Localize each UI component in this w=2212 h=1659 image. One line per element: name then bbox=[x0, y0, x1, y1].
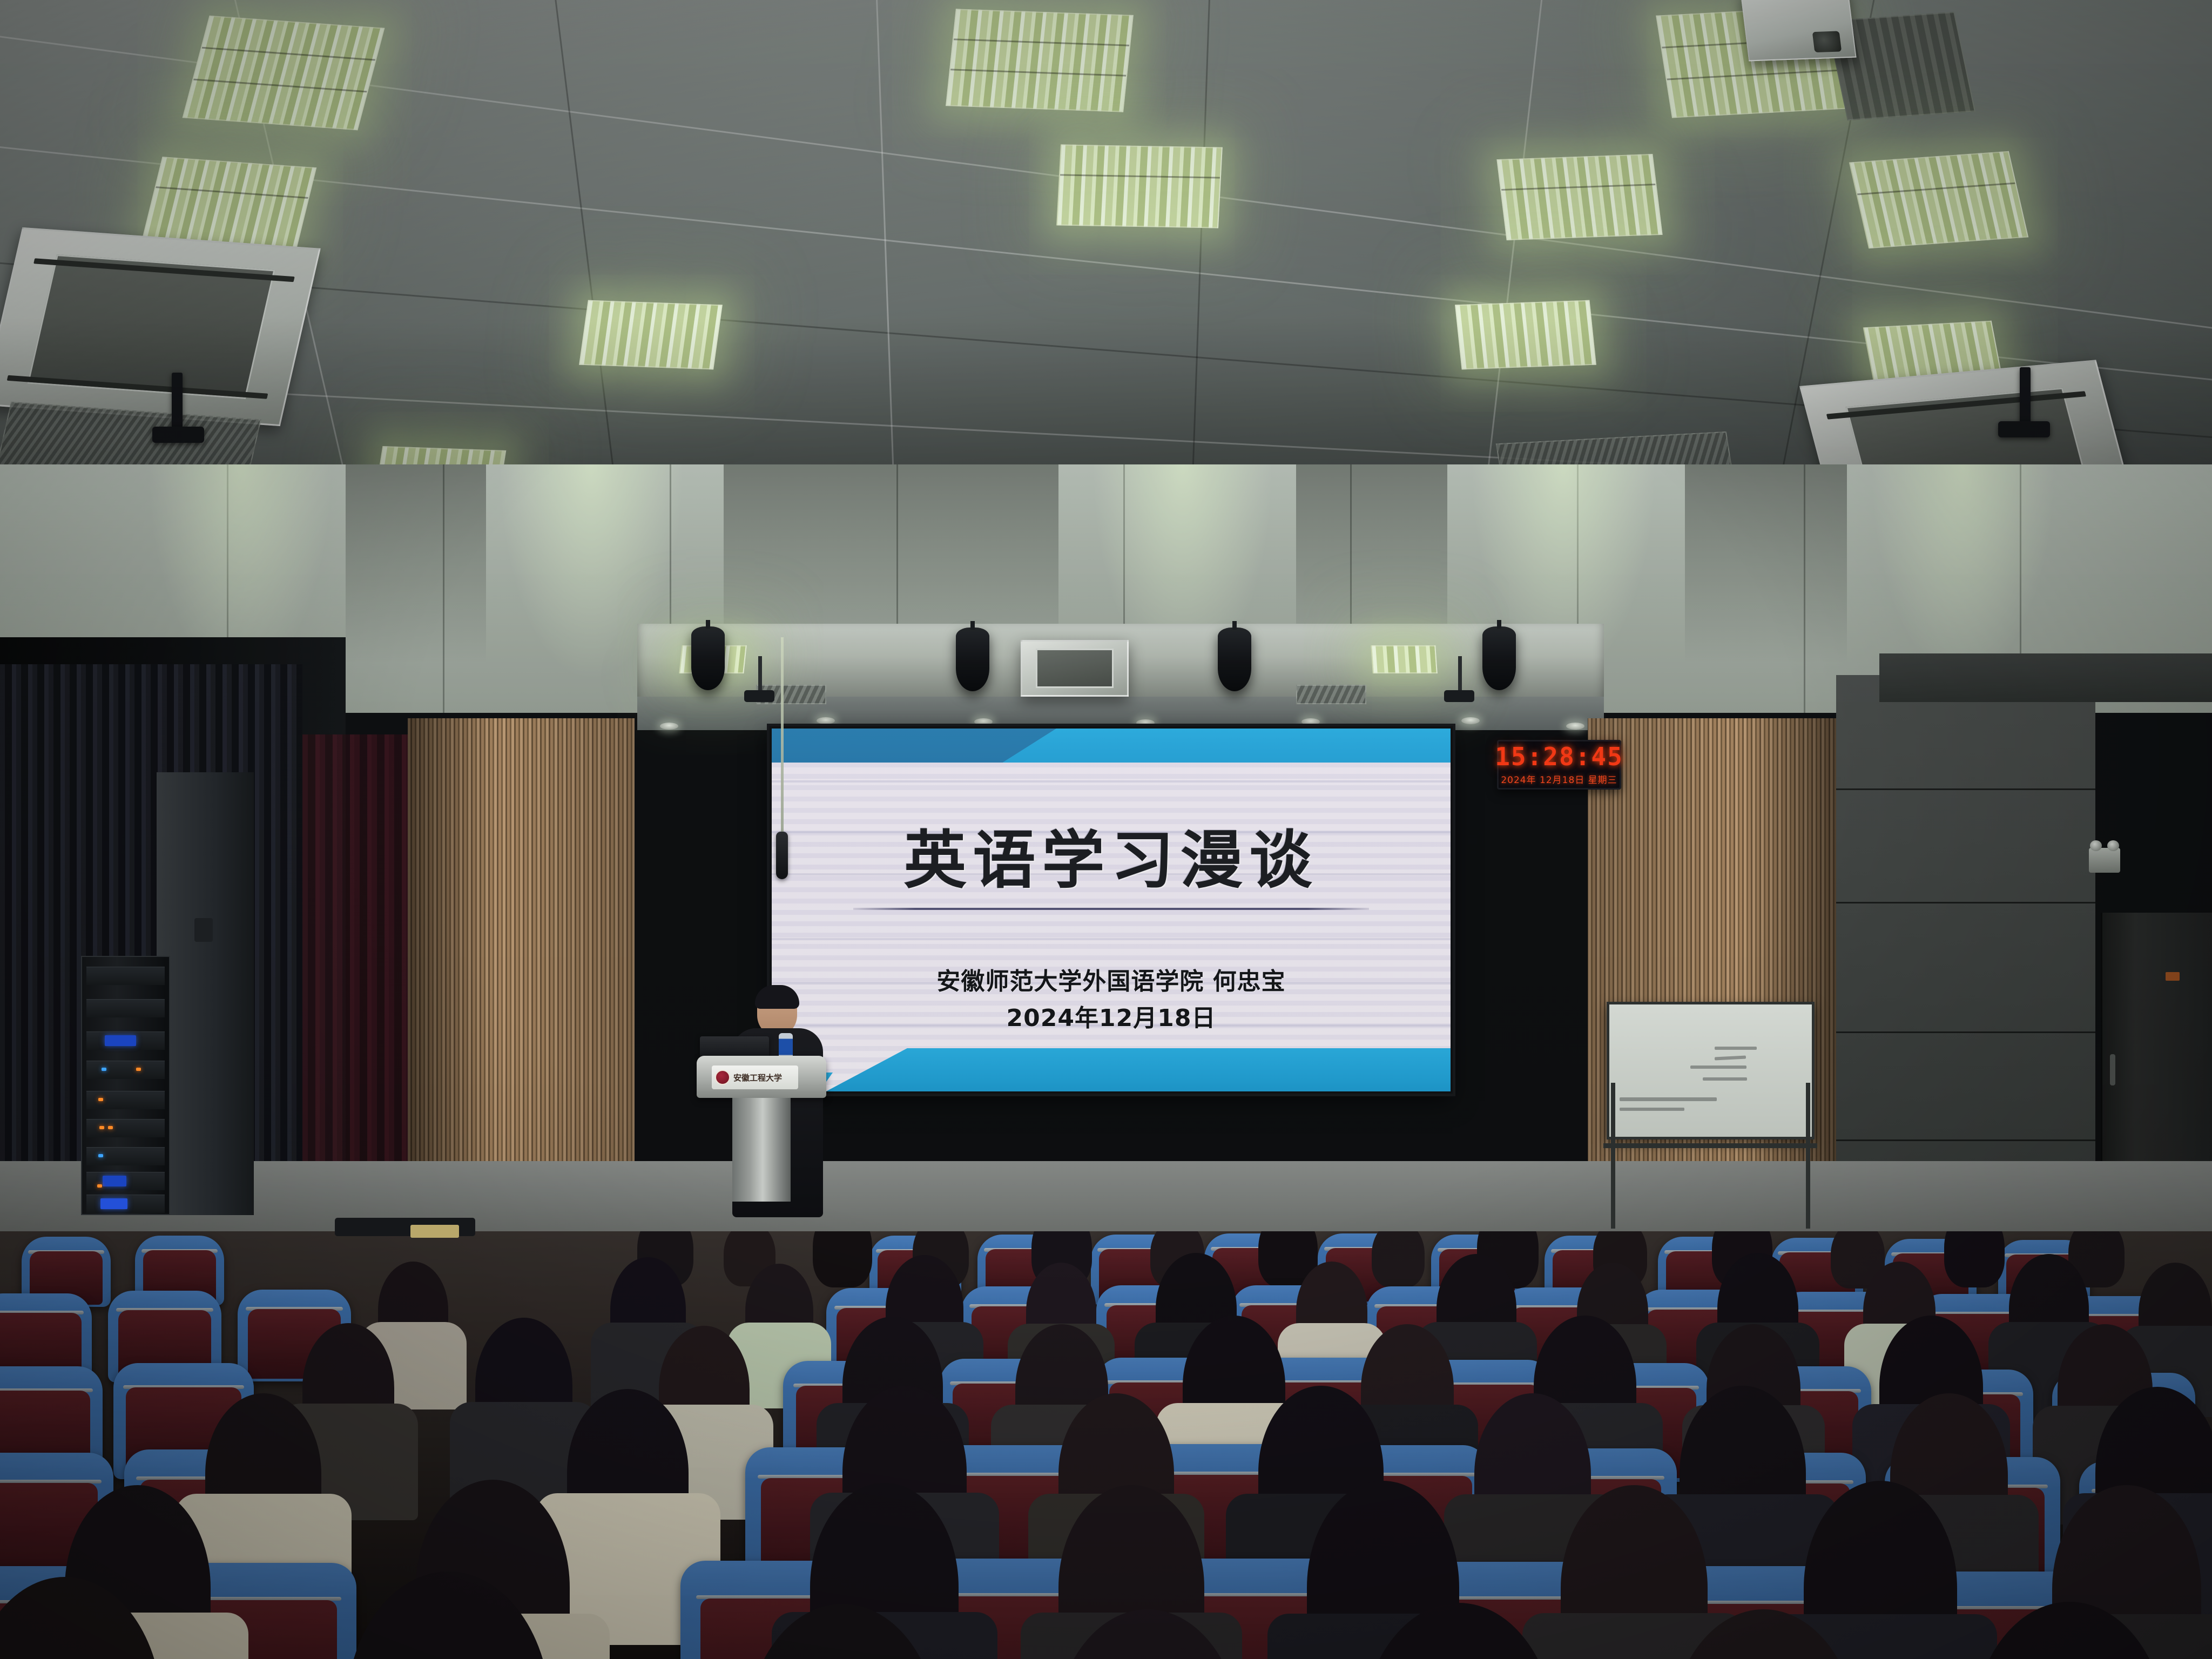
seat-part bbox=[1944, 1231, 2005, 1287]
stage-spotlight bbox=[1482, 626, 1516, 690]
podium-nameplate: 安徽工程大学 bbox=[712, 1065, 798, 1089]
fluorescent-troffer-light bbox=[1863, 321, 2004, 391]
audience-member-foreground bbox=[1971, 1602, 2168, 1659]
hanging-microphone bbox=[776, 832, 788, 879]
audience-member bbox=[205, 1393, 321, 1555]
clock-date: 2024年 12月18日 星期三 bbox=[1501, 772, 1617, 786]
ac-cassette-unit bbox=[0, 227, 321, 426]
stage-spotlight bbox=[1218, 628, 1251, 691]
audience-member bbox=[475, 1318, 572, 1454]
right-wall-panel bbox=[1836, 675, 2095, 1204]
audience-member bbox=[1944, 1231, 2005, 1287]
slide-title-divider bbox=[853, 908, 1369, 910]
light-stem bbox=[1458, 656, 1462, 691]
lecture-hall-photo: 英语学习漫谈 安徽师范大学外国语学院 何忠宝 2024年12月18日 15:28… bbox=[0, 0, 2212, 1659]
whiteboard-leg bbox=[1806, 1083, 1810, 1229]
seat-part bbox=[1372, 1231, 1425, 1287]
light-stem bbox=[758, 656, 762, 691]
soffit-grille bbox=[1296, 685, 1366, 704]
light-head bbox=[1444, 690, 1474, 702]
audience-member-foreground bbox=[0, 1577, 162, 1659]
ceiling-speaker bbox=[1998, 421, 2050, 437]
slide-top-band bbox=[772, 729, 1451, 763]
audience-member-foreground bbox=[1361, 1603, 1556, 1659]
audience-member-foreground bbox=[745, 1604, 940, 1659]
recessed-downlight bbox=[1136, 719, 1155, 726]
fluorescent-troffer-light bbox=[946, 9, 1134, 112]
fluorescent-troffer-light bbox=[1056, 144, 1223, 228]
stage-curtain-red bbox=[302, 734, 410, 1210]
soffit-troffer-light bbox=[1371, 645, 1438, 673]
stage-tape-marker bbox=[410, 1225, 459, 1238]
whiteboard-leg bbox=[1611, 1083, 1615, 1229]
podium-plate-text: 安徽工程大学 bbox=[733, 1072, 782, 1083]
recessed-downlight bbox=[1301, 718, 1320, 725]
presentation-slide: 英语学习漫谈 安徽师范大学外国语学院 何忠宝 2024年12月18日 bbox=[772, 729, 1451, 1091]
speaker-bracket bbox=[2020, 367, 2031, 427]
ceiling-grid-line bbox=[0, 254, 2212, 450]
fluorescent-troffer-light bbox=[143, 157, 317, 248]
fluorescent-troffer-light bbox=[183, 16, 385, 131]
side-equipment-cabinet bbox=[157, 772, 254, 1215]
stage-spotlight bbox=[956, 628, 989, 691]
audience-member bbox=[1296, 1262, 1367, 1361]
fluorescent-troffer-light-off bbox=[1826, 12, 1975, 120]
seat-part bbox=[1361, 1603, 1556, 1659]
soffit-ac-cassette bbox=[1021, 640, 1129, 697]
clock-time: 15:28:45 bbox=[1495, 744, 1623, 769]
light-head bbox=[744, 690, 774, 702]
seat-part bbox=[1053, 1609, 1242, 1659]
slide-affiliation: 安徽师范大学外国语学院 何忠宝 bbox=[772, 962, 1451, 996]
right-wall-header-band bbox=[1879, 653, 2212, 702]
ceiling-speaker bbox=[152, 427, 204, 443]
speaker-bracket bbox=[172, 373, 183, 432]
audience-member bbox=[1372, 1231, 1425, 1287]
stage-spotlight bbox=[691, 626, 725, 690]
university-crest-icon bbox=[715, 1070, 730, 1085]
whiteboard bbox=[1607, 1002, 1815, 1139]
seat-part bbox=[0, 1577, 162, 1659]
podium-top: 安徽工程大学 bbox=[697, 1056, 826, 1098]
microphone-cable bbox=[781, 637, 784, 837]
wall-mounted-device bbox=[194, 918, 213, 942]
seat-part bbox=[813, 1231, 872, 1287]
emergency-light-icon bbox=[2089, 848, 2120, 873]
seat-part bbox=[745, 1604, 940, 1659]
audience-member-foreground bbox=[346, 1572, 551, 1659]
fluorescent-troffer-light bbox=[1849, 151, 2028, 249]
slide-title: 英语学习漫谈 bbox=[772, 810, 1451, 900]
recessed-downlight bbox=[817, 717, 835, 724]
audience-seating-area bbox=[0, 1231, 2212, 1659]
slide-bottom-band bbox=[772, 1048, 1451, 1091]
podium-laptop bbox=[700, 1036, 769, 1058]
ceiling-grid-line bbox=[0, 22, 2212, 347]
fluorescent-troffer-light bbox=[1656, 6, 1849, 118]
wood-slat-wall-left bbox=[408, 718, 635, 1204]
seat-part bbox=[1971, 1602, 2168, 1659]
seat-part bbox=[346, 1572, 551, 1659]
audience-member-foreground bbox=[1053, 1609, 1242, 1659]
projector bbox=[1740, 0, 1856, 61]
recessed-downlight bbox=[660, 723, 678, 730]
ceiling-grid-line bbox=[0, 135, 2212, 396]
seat-part bbox=[1669, 1609, 1859, 1659]
whiteboard-crossbar bbox=[1603, 1143, 1817, 1148]
whiteboard-surface bbox=[1607, 1002, 1815, 1139]
recessed-downlight bbox=[1566, 723, 1584, 730]
exit-indicator-icon bbox=[2166, 972, 2180, 981]
audience-member bbox=[567, 1389, 689, 1557]
slide-date: 2024年12月18日 bbox=[772, 999, 1451, 1033]
recessed-downlight bbox=[974, 718, 993, 725]
digital-clock: 15:28:45 2024年 12月18日 星期三 bbox=[1497, 740, 1621, 790]
audience-member bbox=[745, 1264, 813, 1359]
av-equipment-rack bbox=[81, 956, 170, 1215]
projection-screen: 英语学习漫谈 安徽师范大学外国语学院 何忠宝 2024年12月18日 bbox=[770, 726, 1453, 1094]
podium-column bbox=[732, 1098, 791, 1202]
recessed-downlight bbox=[1461, 717, 1480, 724]
audience-member-foreground bbox=[1669, 1609, 1859, 1659]
podium: 安徽工程大学 bbox=[697, 1056, 826, 1202]
fluorescent-troffer-light bbox=[579, 300, 723, 370]
fluorescent-troffer-light bbox=[1496, 154, 1662, 240]
fluorescent-troffer-light bbox=[1455, 300, 1596, 370]
audience-member bbox=[813, 1231, 872, 1287]
